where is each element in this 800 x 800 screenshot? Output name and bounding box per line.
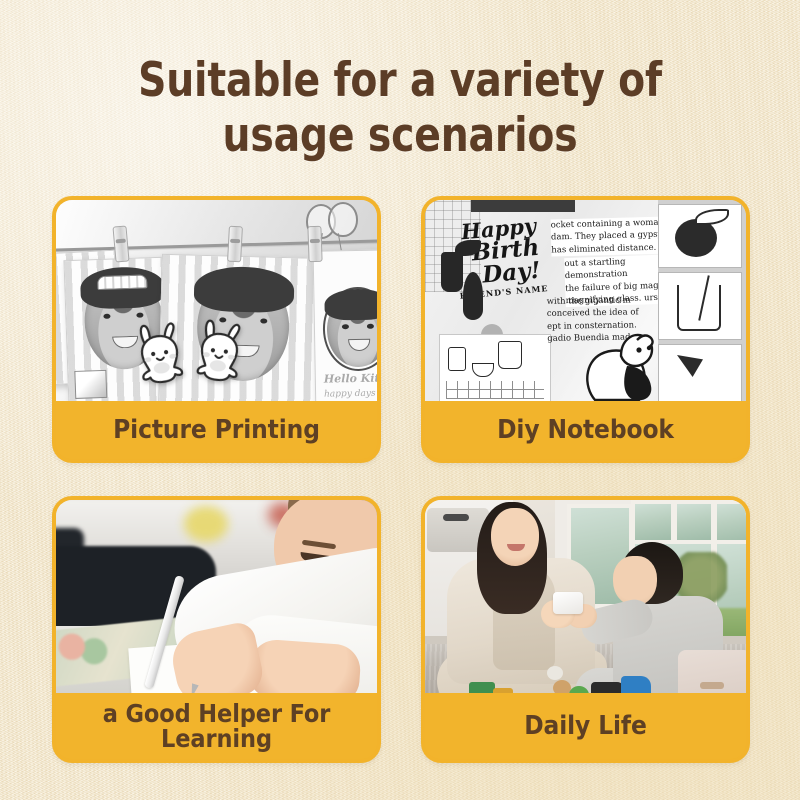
scenario-card-good-helper-for-learning[interactable]: a Good Helper For Learning (52, 496, 381, 763)
scenario-label-picture-printing: Picture Printing (56, 401, 377, 459)
photo-caption-title: Hello Kitty (324, 370, 377, 388)
scenario-label-good-helper-for-learning: a Good Helper For Learning (56, 693, 377, 759)
storage-basket (678, 650, 746, 693)
window-pane (631, 500, 675, 544)
apple-leaf-icon (695, 209, 729, 225)
page-title: Suitable for a variety of usage scenario… (28, 53, 772, 163)
label-printer-device (553, 592, 583, 614)
bear-drawing-icon (577, 322, 669, 401)
cup-icon (472, 363, 494, 377)
bunny-sticker-icon (128, 316, 192, 387)
toy-block (553, 680, 571, 693)
shape-drawing-icon (677, 355, 703, 377)
bunny-sticker-icon (189, 315, 251, 385)
sketch-panel (658, 272, 742, 340)
child-writing-illustration (56, 500, 377, 693)
scenario-card-grid: Hello Kitty happy days make everything n… (52, 196, 750, 763)
toy-block (469, 682, 495, 693)
crown-icon (97, 274, 148, 290)
child-hand-resting (248, 638, 362, 693)
scenario-card-daily-life[interactable]: Daily Life (421, 496, 750, 763)
window-pane (713, 500, 746, 544)
scenario-label-daily-life: Daily Life (425, 693, 746, 759)
background-blur-yellow (184, 506, 228, 542)
notebook-spread-illustration: Happy Birth Day! FRIEND'S NAME (425, 200, 746, 401)
scenario-card-picture-printing[interactable]: Hello Kitty happy days make everything n… (52, 196, 381, 463)
bin-handle (443, 514, 469, 521)
daily-life-photo (425, 500, 746, 693)
photo-caption: Hello Kitty happy days make everything n… (324, 370, 377, 401)
diy-notebook-photo: Happy Birth Day! FRIEND'S NAME (425, 200, 746, 401)
sketch-panel (658, 344, 742, 401)
scenario-card-diy-notebook[interactable]: Happy Birth Day! FRIEND'S NAME (421, 196, 750, 463)
sketch-panel (658, 204, 742, 268)
glass-drawing-icon (677, 285, 721, 331)
basket-handle (700, 682, 724, 689)
mother-face (491, 508, 539, 566)
corner-sticker (74, 370, 107, 399)
jar-icon (448, 347, 466, 371)
clothespin-icon (112, 225, 129, 262)
dark-tape-strip (471, 200, 575, 212)
promo-page: Suitable for a variety of usage scenario… (0, 0, 800, 800)
notebook-text-snippet: ocket containing a woma dam. They placed… (551, 216, 670, 256)
sketch-panel-column (658, 200, 746, 401)
hanging-photo: Hello Kitty happy days make everything n… (313, 249, 377, 401)
clothespin-icon (227, 226, 243, 263)
toy-block (547, 666, 563, 680)
calendar-grid (446, 381, 544, 399)
toy-block (591, 682, 625, 693)
vase-silhouette (441, 252, 463, 292)
memo-sticker (439, 334, 551, 401)
toy-block (621, 676, 651, 693)
clothespin-icon (307, 226, 322, 262)
mother-and-child-illustration (425, 500, 746, 693)
picture-printing-photo: Hello Kitty happy days make everything n… (56, 200, 377, 401)
coffee-pot-icon (498, 341, 522, 369)
hanging-photos-illustration: Hello Kitty happy days make everything n… (56, 200, 377, 401)
scenario-label-diy-notebook: Diy Notebook (425, 401, 746, 459)
window-pane (673, 500, 715, 544)
bottle-silhouette (463, 272, 483, 320)
desk-mat-print (56, 629, 112, 668)
learning-photo (56, 500, 377, 693)
photo-caption-lines: happy days make everything nice and swee… (324, 388, 376, 401)
